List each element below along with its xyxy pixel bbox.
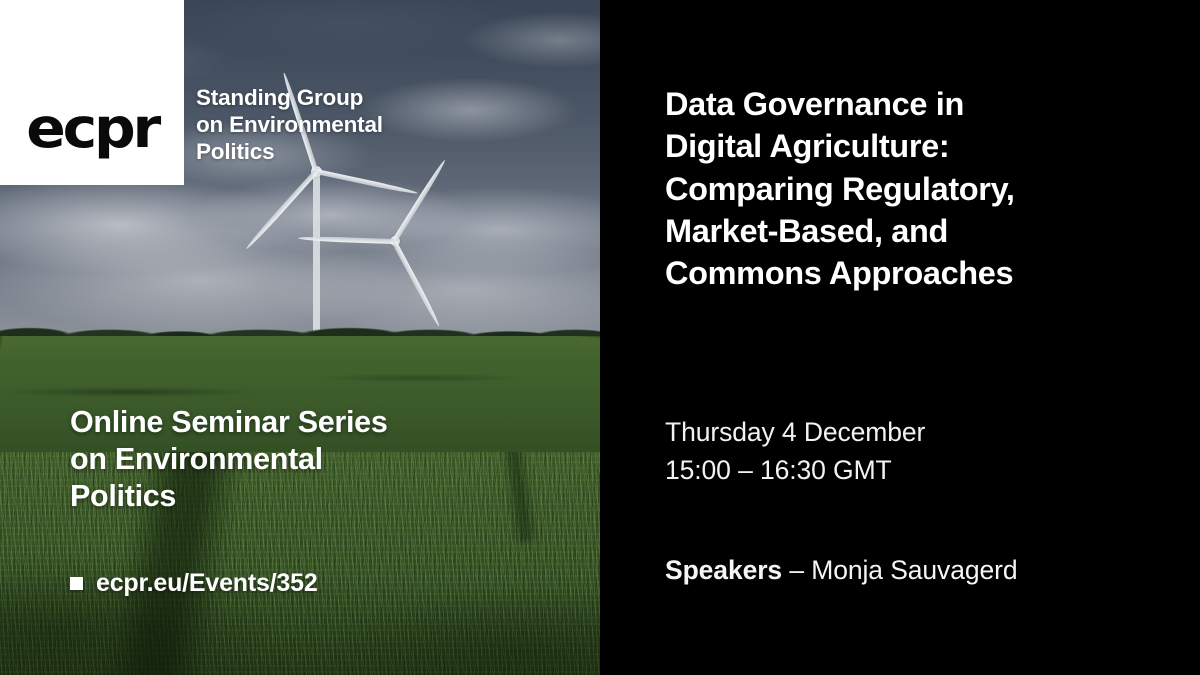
turbine-tower [313,173,320,335]
series-title-line-1: Online Seminar Series [70,404,570,441]
series-title-line-2: on Environmental [70,441,570,478]
event-url-link[interactable]: ecpr.eu/Events/352 [96,569,318,598]
standing-group-line-3: Politics [196,138,496,165]
series-title: Online Seminar Series on Environmental P… [70,404,570,516]
talk-title-line-1: Data Governance in [665,83,1145,125]
talk-title-line-3: Comparing Regulatory, [665,168,1145,210]
turbine-blade [392,240,441,327]
talk-title-line-2: Digital Agriculture: [665,125,1145,167]
standing-group-line-2: on Environmental [196,111,496,138]
talk-title-line-5: Commons Approaches [665,252,1145,294]
talk-title-line-4: Market-Based, and [665,210,1145,252]
event-url-row[interactable]: ecpr.eu/Events/352 [70,569,318,598]
photo-panel: ecpr Standing Group on Environmental Pol… [0,0,600,675]
standing-group-line-1: Standing Group [196,84,496,111]
speaker-name: Monja Sauvagerd [811,555,1017,585]
standing-group-title: Standing Group on Environmental Politics [196,84,496,166]
square-bullet-icon [70,577,83,590]
seminar-promo-card: ecpr Standing Group on Environmental Pol… [0,0,1200,675]
speakers-label: Speakers [665,555,782,585]
speakers-separator: – [782,555,811,585]
ecpr-wordmark: ecpr [26,106,158,151]
event-date: Thursday 4 December [665,413,1145,451]
ecpr-logo: ecpr [0,0,184,185]
talk-title: Data Governance in Digital Agriculture: … [665,83,1145,294]
event-datetime: Thursday 4 December 15:00 – 16:30 GMT [665,413,1145,489]
event-time: 15:00 – 16:30 GMT [665,451,1145,489]
info-panel: Data Governance in Digital Agriculture: … [600,0,1200,675]
series-title-line-3: Politics [70,478,570,515]
speakers-row: Speakers – Monja Sauvagerd [665,553,1165,587]
